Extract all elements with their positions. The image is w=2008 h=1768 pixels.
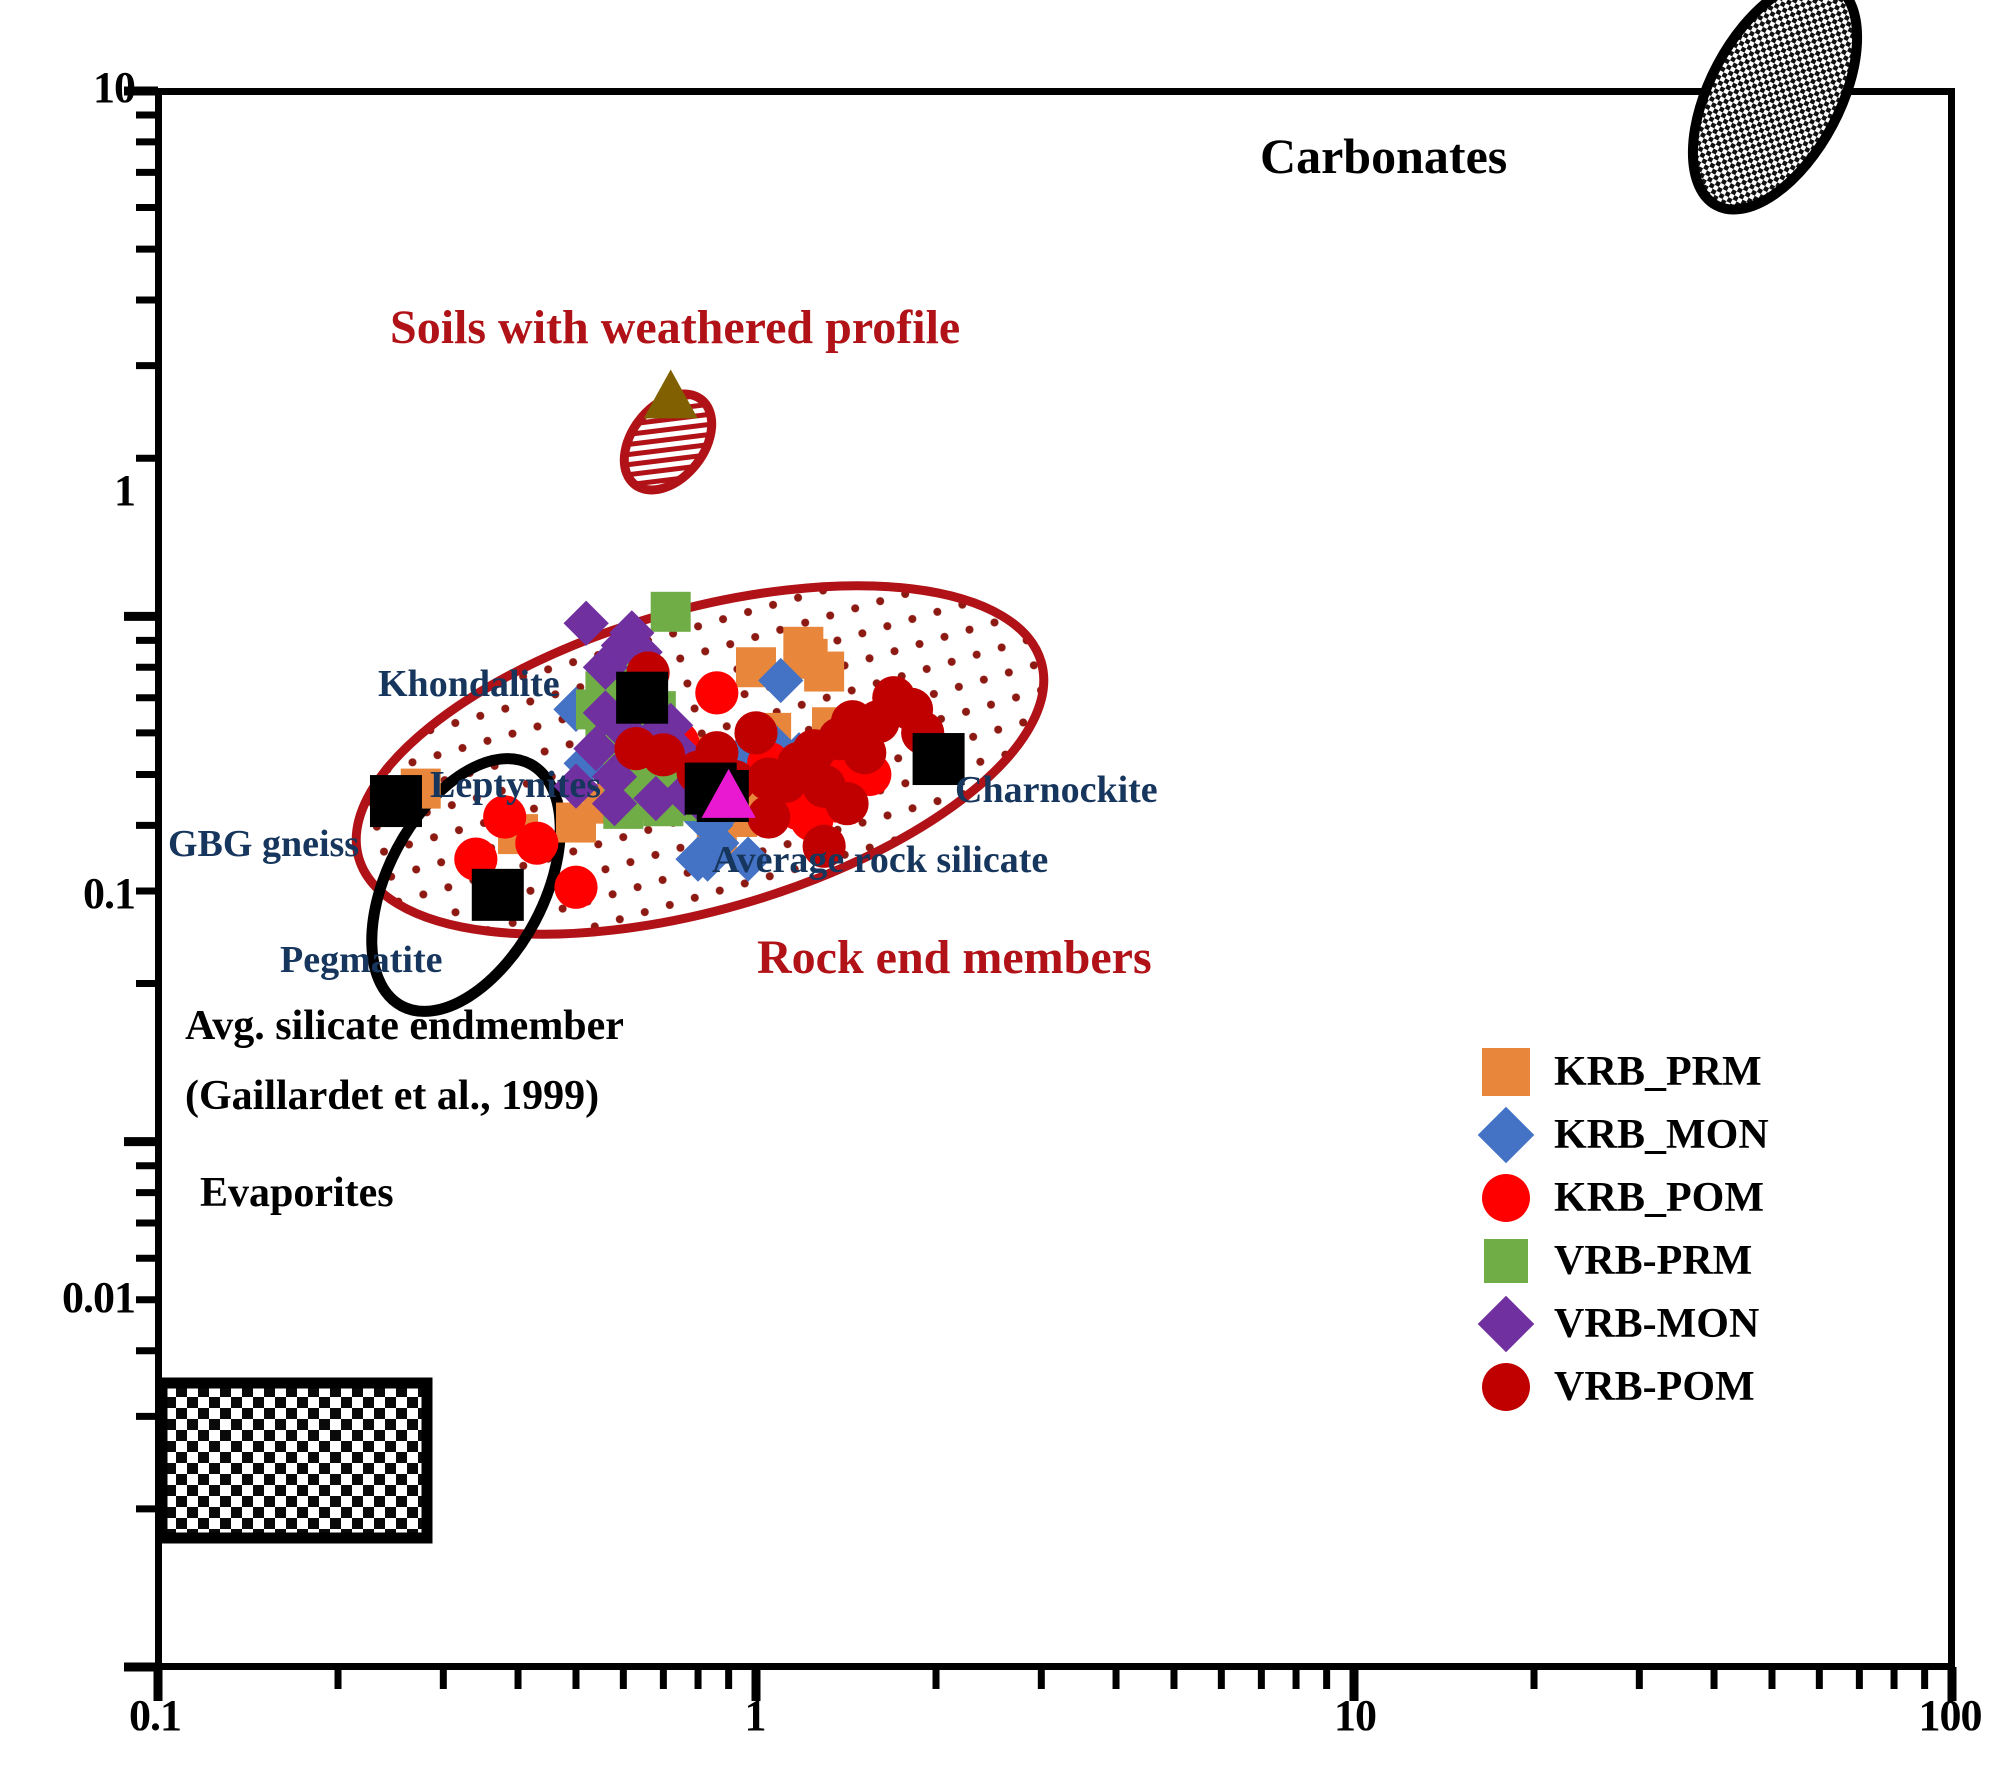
legend-swatch-circle-icon xyxy=(1480,1361,1532,1413)
annotation-charnockite: Charnockite xyxy=(955,768,1158,812)
annotation-soils: Soils with weathered profile xyxy=(390,300,960,355)
y-tick-label-10: 10 xyxy=(0,62,135,113)
annotation-gbg-gneiss: GBG gneiss xyxy=(168,822,359,866)
legend-label: KRB_POM xyxy=(1554,1174,1764,1222)
data-point xyxy=(804,652,844,692)
annotation-avg-silicate-line2: (Gaillardet et al., 1999) xyxy=(185,1073,599,1120)
annotation-avg-silicate-line1: Avg. silicate endmember xyxy=(185,1003,624,1050)
annotation-leptynites: Leptynites xyxy=(430,763,601,807)
legend-item-vrb-prm[interactable]: VRB-PRM xyxy=(1480,1229,1769,1292)
legend-label: VRB-PRM xyxy=(1554,1237,1752,1285)
legend-swatch-square-icon xyxy=(1480,1235,1532,1287)
x-tick-label-10: 10 xyxy=(1275,1690,1435,1741)
annotation-carbonates: Carbonates xyxy=(1260,128,1507,184)
evaporites-region xyxy=(162,1383,427,1538)
y-tick-label-1: 1 xyxy=(0,465,135,516)
x-tick-label-100: 100 xyxy=(1870,1690,2008,1741)
legend-label: KRB_MON xyxy=(1554,1111,1769,1159)
legend-item-krb-pom[interactable]: KRB_POM xyxy=(1480,1166,1769,1229)
data-point xyxy=(695,671,738,714)
legend-label: VRB-MON xyxy=(1554,1300,1759,1348)
annotation-rock-end-members: Rock end members xyxy=(757,930,1152,985)
data-point xyxy=(614,727,657,770)
x-tick-label-1: 1 xyxy=(675,1690,835,1741)
legend-item-vrb-mon[interactable]: VRB-MON xyxy=(1480,1292,1769,1355)
legend-swatch-square-icon xyxy=(1480,1046,1532,1098)
data-point xyxy=(370,775,422,827)
legend-item-krb-prm[interactable]: KRB_PRM xyxy=(1480,1040,1769,1103)
carbonates-region xyxy=(1659,0,1891,236)
legend-item-krb-mon[interactable]: KRB_MON xyxy=(1480,1103,1769,1166)
data-point xyxy=(734,711,777,754)
data-point xyxy=(616,672,668,724)
annotation-khondalite: Khondalite xyxy=(378,662,560,706)
annotation-evaporites: Evaporites xyxy=(200,1170,394,1217)
x-axis-ticks xyxy=(158,1667,1952,1701)
legend-swatch-circle-icon xyxy=(1480,1172,1532,1224)
data-point xyxy=(515,822,558,865)
data-point xyxy=(651,592,691,632)
x-tick-label-0.1: 0.1 xyxy=(75,1690,235,1741)
annotation-average-rock-silicate: Average rock silicate xyxy=(712,838,1048,882)
legend-swatch-diamond-icon xyxy=(1480,1298,1532,1350)
data-point xyxy=(825,782,868,825)
legend-item-vrb-pom[interactable]: VRB-POM xyxy=(1480,1355,1769,1418)
legend-label: VRB-POM xyxy=(1554,1363,1755,1411)
y-tick-label-0.1: 0.1 xyxy=(0,868,135,919)
data-point xyxy=(554,866,597,909)
legend: KRB_PRM KRB_MON KRB_POM VRB-PRM VRB-MON … xyxy=(1480,1040,1769,1418)
legend-label: KRB_PRM xyxy=(1554,1048,1762,1096)
chart-canvas: 10 1 0.1 0.01 0.1 1 10 100 Carbonates So… xyxy=(0,0,2008,1768)
data-point xyxy=(472,869,524,921)
plot-svg xyxy=(0,0,2008,1768)
y-tick-label-0.01: 0.01 xyxy=(0,1272,135,1323)
legend-swatch-diamond-icon xyxy=(1480,1109,1532,1161)
annotation-pegmatite: Pegmatite xyxy=(280,938,442,982)
